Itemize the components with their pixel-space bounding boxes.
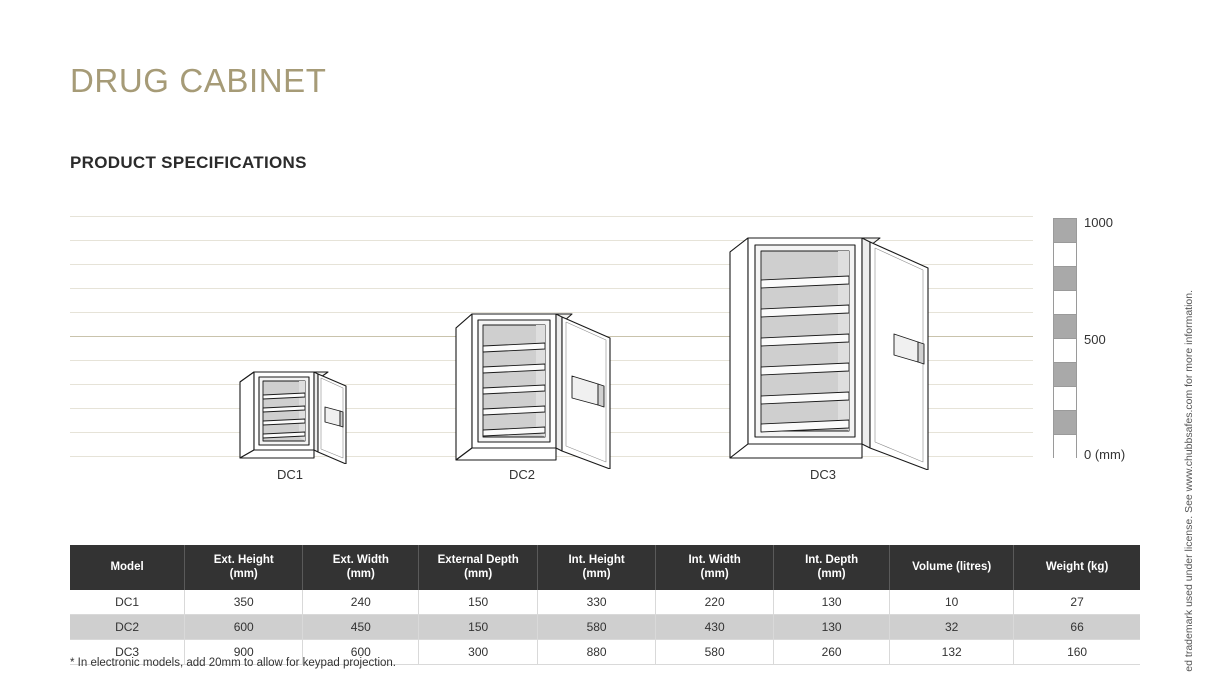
column-header-weight-line1: Weight (kg) <box>1046 561 1108 573</box>
column-header-ext-height: Ext. Height (mm) <box>185 545 303 590</box>
cell-model: DC2 <box>70 615 185 640</box>
column-header-model: Model <box>70 545 185 590</box>
ruler-block-300-200 <box>1054 387 1076 411</box>
cell-int-depth: 130 <box>774 615 890 640</box>
scale-label-500: 500 <box>1084 332 1106 347</box>
gridline-1000 <box>70 216 1033 217</box>
column-header-weight: Weight (kg) <box>1014 545 1140 590</box>
cell-volume: 132 <box>890 640 1014 665</box>
cabinet-illustration-dc1 <box>232 364 368 464</box>
ruler-block-900-800 <box>1054 243 1076 267</box>
ruler-block-200-100 <box>1054 411 1076 435</box>
column-header-ext-height-line2: (mm) <box>230 568 258 580</box>
ruler-block-1000-900 <box>1054 219 1076 243</box>
column-header-external-depth: External Depth (mm) <box>419 545 538 590</box>
column-header-int-width-line2: (mm) <box>701 568 729 580</box>
column-header-int-depth-line1: Int. Depth <box>805 554 858 566</box>
scale-label-0: 0 (mm) <box>1084 447 1125 462</box>
column-header-volume-line1: Volume (litres) <box>912 561 991 573</box>
cell-int-depth: 130 <box>774 590 890 615</box>
column-header-volume: Volume (litres) <box>890 545 1014 590</box>
product-specifications-table: Model Ext. Height (mm) Ext. Width (mm) E… <box>70 545 1140 665</box>
cell-ext-width: 450 <box>303 615 419 640</box>
cell-external-depth: 150 <box>419 615 538 640</box>
ruler-block-400-300 <box>1054 363 1076 387</box>
cabinet-label-dc1: DC1 <box>277 467 303 482</box>
column-header-int-depth-line2: (mm) <box>818 568 846 580</box>
cabinet-illustration-dc3 <box>722 230 952 470</box>
cell-int-depth: 260 <box>774 640 890 665</box>
column-header-int-width-line1: Int. Width <box>688 554 740 566</box>
cell-weight: 27 <box>1014 590 1140 615</box>
cell-ext-height: 350 <box>185 590 303 615</box>
cell-ext-width: 240 <box>303 590 419 615</box>
ruler-block-600-500 <box>1054 315 1076 339</box>
cell-external-depth: 300 <box>419 640 538 665</box>
column-header-ext-width-line2: (mm) <box>347 568 375 580</box>
cell-int-width: 430 <box>656 615 774 640</box>
ruler-block-700-600 <box>1054 291 1076 315</box>
cabinet-label-dc2: DC2 <box>509 467 535 482</box>
cell-int-height: 330 <box>538 590 656 615</box>
ruler-block-100-0 <box>1054 435 1076 459</box>
cell-volume: 32 <box>890 615 1014 640</box>
column-header-external-depth-line1: External Depth <box>438 554 519 566</box>
cabinet-illustration-dc2 <box>448 304 638 469</box>
legal-vertical-text: ed trademark used under license. See www… <box>1183 290 1195 672</box>
page-title: DRUG CABINET <box>70 62 327 100</box>
footnote: * In electronic models, add 20mm to allo… <box>70 657 396 669</box>
cell-int-width: 220 <box>656 590 774 615</box>
section-title: PRODUCT SPECIFICATIONS <box>70 153 307 173</box>
cell-weight: 66 <box>1014 615 1140 640</box>
table-header-row: Model Ext. Height (mm) Ext. Width (mm) E… <box>70 545 1140 590</box>
cell-volume: 10 <box>890 590 1014 615</box>
ruler-block-500-400 <box>1054 339 1076 363</box>
column-header-external-depth-line2: (mm) <box>464 568 492 580</box>
cell-model: DC1 <box>70 590 185 615</box>
column-header-int-width: Int. Width (mm) <box>656 545 774 590</box>
cell-int-height: 880 <box>538 640 656 665</box>
column-header-int-height: Int. Height (mm) <box>538 545 656 590</box>
column-header-int-height-line2: (mm) <box>583 568 611 580</box>
cell-external-depth: 150 <box>419 590 538 615</box>
column-header-int-height-line1: Int. Height <box>568 554 624 566</box>
cell-weight: 160 <box>1014 640 1140 665</box>
cell-ext-height: 600 <box>185 615 303 640</box>
scale-ruler <box>1053 218 1077 458</box>
column-header-ext-width-line1: Ext. Width <box>333 554 389 566</box>
column-header-model-line1: Model <box>110 561 143 573</box>
cabinet-label-dc3: DC3 <box>810 467 836 482</box>
column-header-int-depth: Int. Depth (mm) <box>774 545 890 590</box>
column-header-ext-height-line1: Ext. Height <box>214 554 274 566</box>
cell-int-width: 580 <box>656 640 774 665</box>
scale-label-1000: 1000 <box>1084 215 1113 230</box>
cell-int-height: 580 <box>538 615 656 640</box>
ruler-block-800-700 <box>1054 267 1076 291</box>
column-header-ext-width: Ext. Width (mm) <box>303 545 419 590</box>
table-row: DC2 600 450 150 580 430 130 32 66 <box>70 615 1140 640</box>
table-row: DC1 350 240 150 330 220 130 10 27 <box>70 590 1140 615</box>
